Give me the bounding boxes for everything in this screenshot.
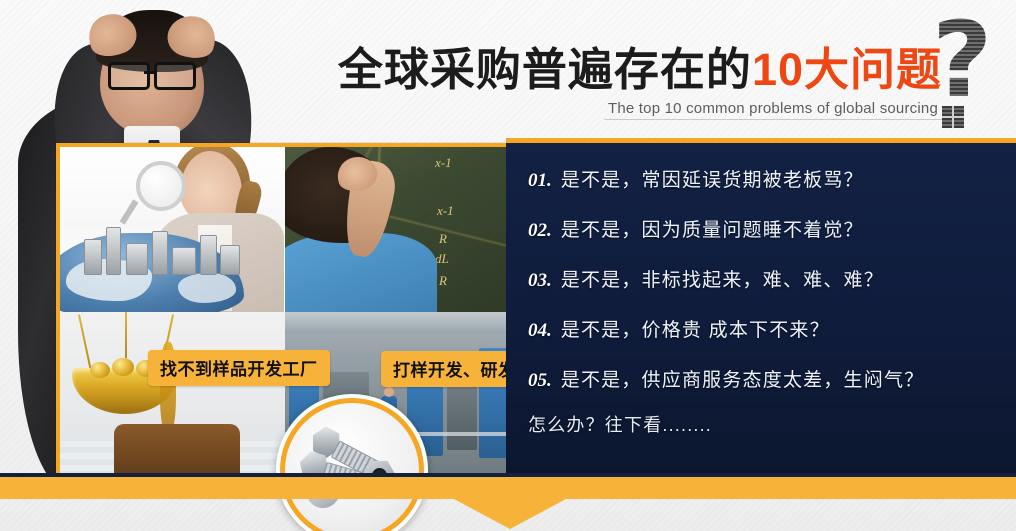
- caption-no-sample-factory: 找不到样品开发工厂: [148, 350, 330, 386]
- list-item: 03.是不是，非标找起来，难、难、难？: [528, 265, 884, 292]
- magnifier-lens: [136, 161, 186, 211]
- page-subtitle: The top 10 common problems of global sou…: [608, 100, 938, 117]
- question-mark-icon: ?: [932, 22, 1006, 132]
- businessman-glasses: [108, 62, 198, 84]
- down-arrow-icon: [454, 499, 566, 529]
- page-title-highlight: 10大问题: [752, 44, 942, 95]
- list-item-number: 03.: [528, 270, 552, 291]
- question-mark-glyph: ?: [932, 8, 992, 112]
- list-item-number: 05.: [528, 370, 552, 391]
- list-item-text: 是不是，价格贵 成本下不来？: [561, 320, 830, 341]
- list-item-text: 是不是，常因延误货期被老板骂？: [561, 170, 864, 191]
- list-item: 01.是不是，常因延误货期被老板骂？: [528, 165, 864, 192]
- photo-collage: x-1 x-1 R dL R: [56, 143, 506, 473]
- photo-student-chalkboard: x-1 x-1 R dL R: [285, 147, 510, 312]
- question-mark-dot: [942, 106, 964, 128]
- closing-line: 怎么办？往下看........: [528, 411, 712, 437]
- page-title-main: 全球采购普遍存在的: [338, 44, 752, 95]
- list-item-text: 是不是，非标找起来，难、难、难？: [561, 270, 884, 291]
- scale-chain-left: [78, 314, 92, 371]
- list-item-number: 04.: [528, 320, 552, 341]
- gold-nugget: [112, 358, 134, 376]
- photo-gold-scale: [60, 312, 285, 477]
- list-item: 04.是不是，价格贵 成本下不来？: [528, 315, 830, 342]
- problems-panel: 01.是不是，常因延误货期被老板骂？ 02.是不是，因为质量问题睡不着觉？ 03…: [506, 143, 1016, 473]
- list-item-text: 是不是，因为质量问题睡不着觉？: [561, 220, 864, 241]
- photo-woman-magnifier-globe: [60, 147, 285, 312]
- list-item-number: 02.: [528, 220, 552, 241]
- list-item-text: 是不是，供应商服务态度太差，生闷气？: [561, 370, 925, 391]
- scale-chain-center: [125, 312, 127, 358]
- bolts-and-nuts-icon: [296, 414, 408, 526]
- badge-ring: [280, 398, 424, 531]
- list-item: 05.是不是，供应商服务态度太差，生闷气？: [528, 365, 924, 392]
- page-title: 全球采购普遍存在的10大问题: [338, 47, 942, 93]
- panel-top-rule: [506, 138, 1016, 143]
- list-item: 02.是不是，因为质量问题睡不着觉？: [528, 215, 864, 242]
- factory-ceiling: [285, 312, 510, 334]
- footer-bar: [0, 477, 1016, 499]
- wooden-base: [114, 424, 240, 477]
- gold-nugget: [90, 362, 110, 378]
- poster-canvas: 全球采购普遍存在的10大问题 The top 10 common problem…: [0, 0, 1016, 531]
- metal-parts-cluster: [80, 221, 236, 281]
- center-badge-bolts: [276, 394, 428, 531]
- list-item-number: 01.: [528, 170, 552, 191]
